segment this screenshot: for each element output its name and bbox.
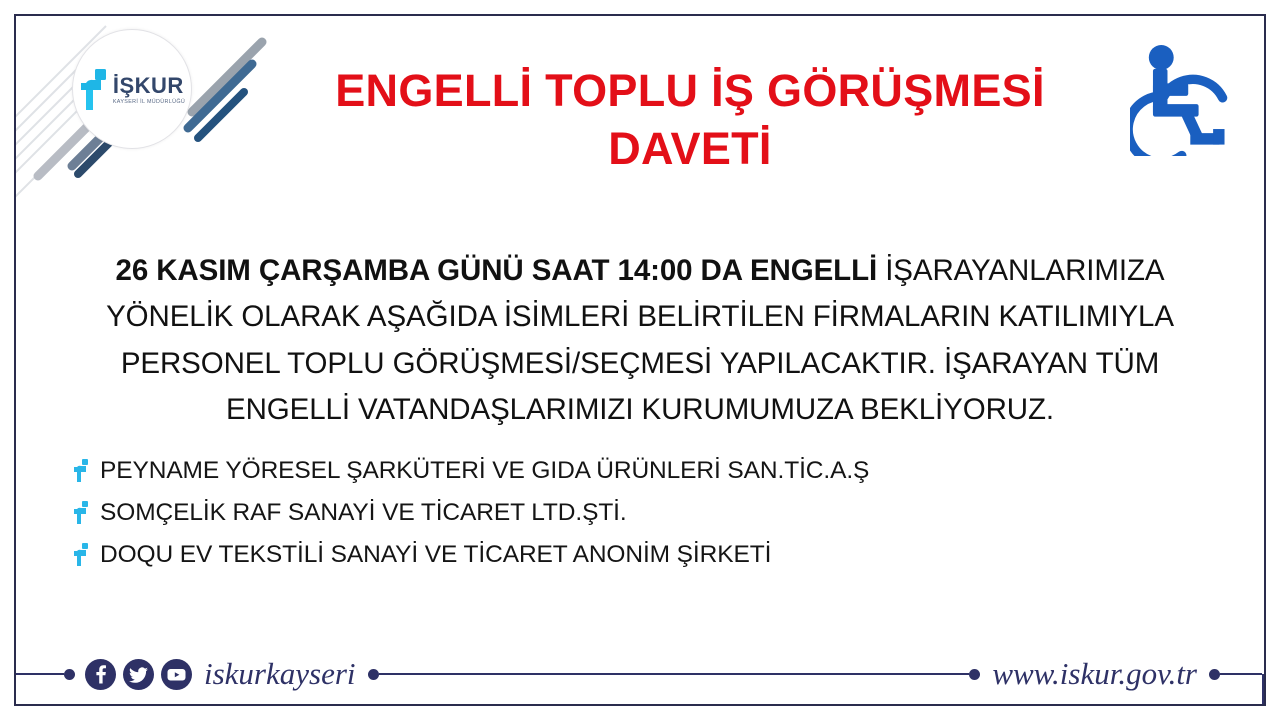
logo-subtitle: KAYSERİ İL MÜDÜRLÜĞÜ xyxy=(113,100,185,105)
announcement-lead: 26 KASIM ÇARŞAMBA GÜNÜ SAAT 14:00 DA ENG… xyxy=(116,254,878,287)
footer-rule-right xyxy=(1220,673,1262,675)
youtube-icon[interactable] xyxy=(161,659,192,690)
footer-rule-left xyxy=(16,673,64,675)
company-list: PEYNAME YÖRESEL ŞARKÜTERİ VE GIDA ÜRÜNLE… xyxy=(74,450,1174,576)
title-line-2: DAVETİ xyxy=(300,120,1080,178)
iskur-bullet-icon xyxy=(74,459,89,483)
iskur-person-icon xyxy=(79,68,109,112)
footer-dot-mid-right xyxy=(969,669,980,680)
iskur-bullet-icon xyxy=(74,543,89,567)
company-name: PEYNAME YÖRESEL ŞARKÜTERİ VE GIDA ÜRÜNLE… xyxy=(100,457,869,485)
social-handle: iskurkayseri xyxy=(204,656,356,692)
wheelchair-glyph xyxy=(1130,44,1234,156)
footer-bar: iskurkayseri www.iskur.gov.tr xyxy=(16,644,1264,704)
iskur-bullet-icon xyxy=(74,501,89,525)
list-item: DOQU EV TEKSTİLİ SANAYİ VE TİCARET ANONİ… xyxy=(74,534,1174,576)
company-name: DOQU EV TEKSTİLİ SANAYİ VE TİCARET ANONİ… xyxy=(100,541,771,569)
footer-dot-mid-left xyxy=(368,669,379,680)
wheelchair-icon xyxy=(1130,44,1234,156)
footer-dot-left xyxy=(64,669,75,680)
facebook-icon[interactable] xyxy=(85,659,116,690)
footer-corner-riser xyxy=(1262,674,1264,704)
company-name: SOMÇELİK RAF SANAYİ VE TİCARET LTD.ŞTİ. xyxy=(100,499,627,527)
title-line-1: ENGELLİ TOPLU İŞ GÖRÜŞMESİ xyxy=(300,62,1080,120)
twitter-icon[interactable] xyxy=(123,659,154,690)
logo-name: İŞKUR xyxy=(113,75,184,97)
footer-dot-right xyxy=(1209,669,1220,680)
page-title: ENGELLİ TOPLU İŞ GÖRÜŞMESİ DAVETİ xyxy=(300,62,1080,177)
footer-rule-center xyxy=(379,673,970,675)
announcement-body: 26 KASIM ÇARŞAMBA GÜNÜ SAAT 14:00 DA ENG… xyxy=(62,248,1218,434)
list-item: PEYNAME YÖRESEL ŞARKÜTERİ VE GIDA ÜRÜNLE… xyxy=(74,450,1174,492)
list-item: SOMÇELİK RAF SANAYİ VE TİCARET LTD.ŞTİ. xyxy=(74,492,1174,534)
social-links xyxy=(85,659,192,690)
iskur-logo-badge: İŞKUR KAYSERİ İL MÜDÜRLÜĞÜ xyxy=(72,29,192,149)
website-url: www.iskur.gov.tr xyxy=(992,656,1197,692)
poster-canvas: İŞKUR KAYSERİ İL MÜDÜRLÜĞÜ ENGELLİ TOPLU… xyxy=(0,0,1280,720)
